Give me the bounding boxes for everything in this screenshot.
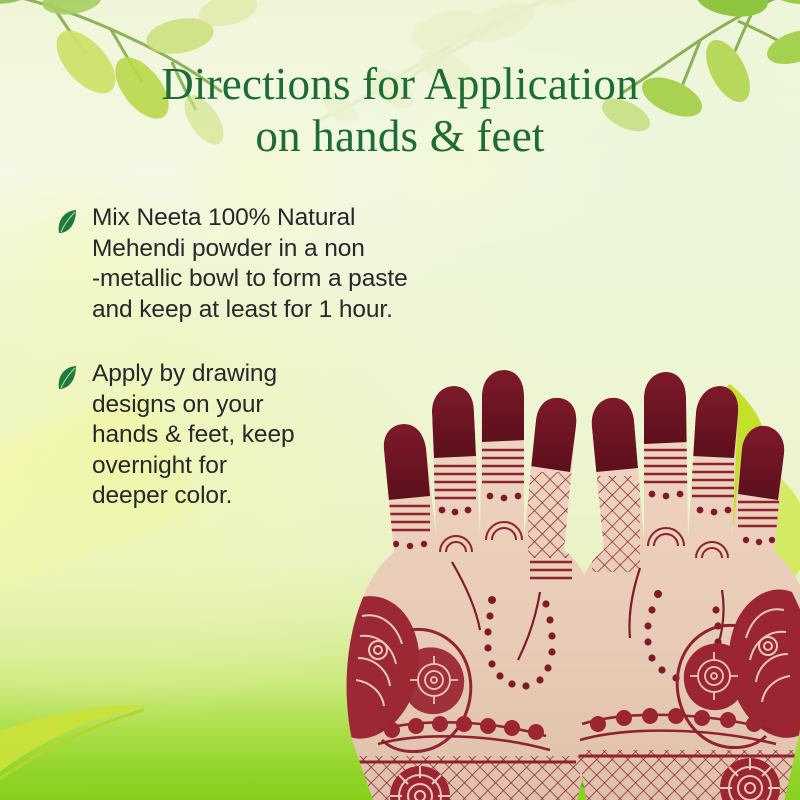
list-item-text: Apply by drawing designs on your hands &… (92, 359, 347, 512)
title-line-2: on hands & feet (0, 110, 800, 162)
leaf-bullet-icon (56, 208, 78, 234)
leaf-bullet-icon (56, 364, 78, 390)
right-hand (565, 372, 800, 800)
list-item: Apply by drawing designs on your hands &… (56, 359, 526, 512)
instructions-list: Mix Neeta 100% Natural Mehendi powder in… (56, 203, 526, 546)
list-item: Mix Neeta 100% Natural Mehendi powder in… (56, 203, 526, 325)
title-line-1: Directions for Application (0, 58, 800, 110)
page-title: Directions for Application on hands & fe… (0, 58, 800, 162)
poster-canvas: Directions for Application on hands & fe… (0, 0, 800, 800)
list-item-text: Mix Neeta 100% Natural Mehendi powder in… (92, 203, 512, 325)
bottom-left-leaf-icon (0, 696, 156, 800)
